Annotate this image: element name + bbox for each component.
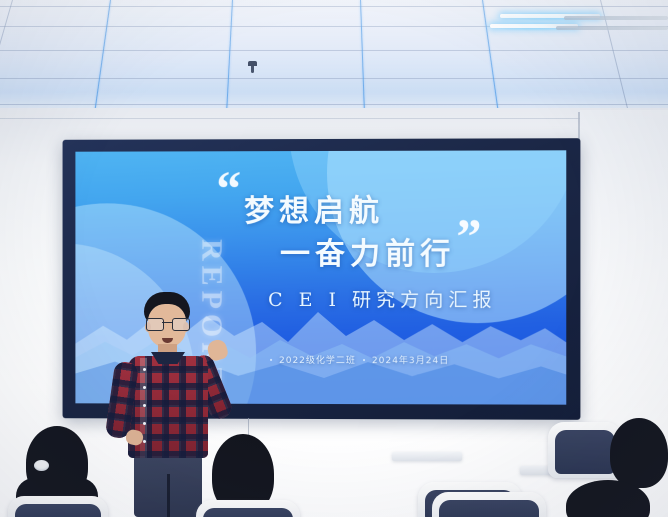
slide-meta-row: 2022级化学二班 2024年3月24日 [270,353,449,366]
lecture-chair[interactable] [8,496,108,517]
ceiling [0,0,668,118]
sprinkler-head-icon [248,61,257,66]
quote-close-mark: ” [456,221,478,251]
wall-seam [0,118,580,119]
tablet-desk [392,452,462,461]
hair-scrunchie [34,460,49,471]
presenter-leg-split [167,474,170,517]
lecture-chair[interactable] [432,492,546,517]
lecture-chair[interactable] [196,500,300,517]
slide-meta-date: 2024年3月24日 [372,353,449,366]
glasses-icon [146,318,188,329]
fluorescent-tube-light [556,26,668,30]
side-wall [580,110,668,440]
slide-title-line-1: 梦想启航 [244,186,384,230]
classroom-presentation-scene: REPORT “ ” 梦想启航 一奋力前行 C E I 研究方向汇报 2022级… [0,0,668,517]
bullet-dot-icon [270,358,272,360]
slide-meta-class: 2022级化学二班 [279,353,356,366]
slide-subtitle: C E I 研究方向汇报 [268,285,497,312]
fluorescent-tube-light [564,16,668,20]
bullet-dot-icon [363,359,365,361]
slide-title-line-2: 一奋力前行 [280,229,455,273]
student-right-back [610,418,668,488]
quote-open-mark: “ [216,173,238,203]
